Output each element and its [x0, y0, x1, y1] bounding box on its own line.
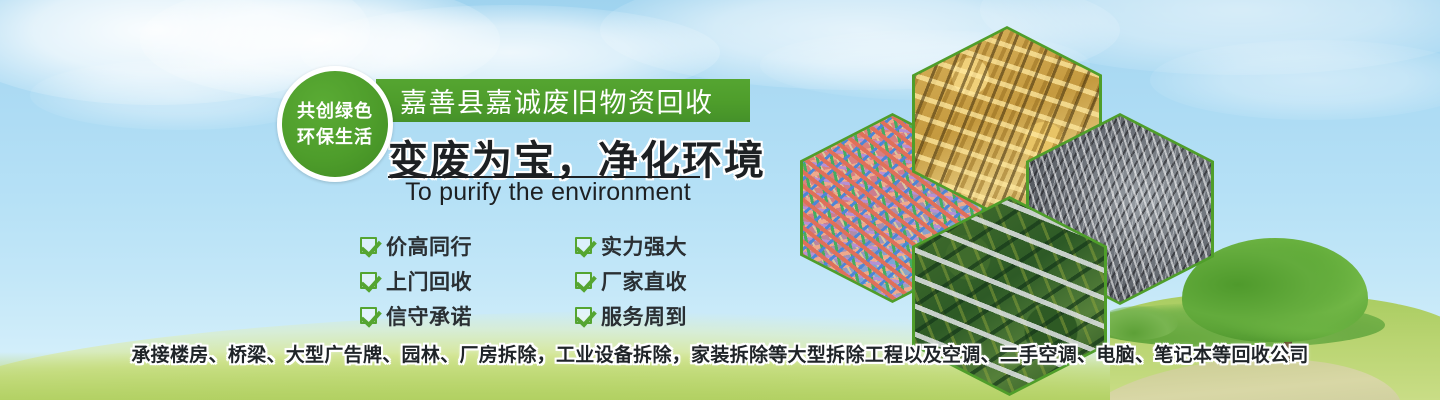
feature-list: 价高同行 实力强大 上门回收 厂家直收 信守承诺 服务周到 — [360, 228, 690, 333]
check-box-icon — [575, 237, 592, 254]
feature-item: 服务周到 — [575, 301, 690, 331]
feature-label: 价高同行 — [386, 231, 472, 261]
company-name: 嘉善县嘉诚废旧物资回收 — [376, 81, 714, 120]
company-name-bar: 嘉善县嘉诚废旧物资回收 — [376, 79, 750, 122]
check-box-icon — [360, 307, 377, 324]
services-strapline: 承接楼房、桥梁、大型广告牌、园林、厂房拆除，工业设备拆除，家装拆除等大型拆除工程… — [0, 340, 1440, 367]
headline-subtitle-english: To purify the environment — [388, 178, 708, 207]
feature-item: 厂家直收 — [575, 266, 690, 296]
check-box-icon — [360, 272, 377, 289]
feature-item: 上门回收 — [360, 266, 575, 296]
feature-label: 上门回收 — [386, 266, 472, 296]
check-box-icon — [360, 237, 377, 254]
check-box-icon — [575, 272, 592, 289]
hexagon-photo-cluster — [790, 18, 1240, 338]
feature-item: 价高同行 — [360, 231, 575, 261]
feature-item: 实力强大 — [575, 231, 690, 261]
check-box-icon — [575, 307, 592, 324]
eco-slogan-badge: 共创绿色 环保生活 — [277, 66, 393, 182]
eco-slogan-line-2: 环保生活 — [297, 124, 373, 150]
feature-label: 服务周到 — [601, 301, 687, 331]
feature-label: 信守承诺 — [386, 301, 472, 331]
feature-item: 信守承诺 — [360, 301, 575, 331]
feature-label: 实力强大 — [601, 231, 687, 261]
recycling-company-banner: 共创绿色 环保生活 嘉善县嘉诚废旧物资回收 变废为宝，净化环境 To purif… — [0, 0, 1440, 400]
feature-label: 厂家直收 — [601, 266, 687, 296]
eco-slogan-line-1: 共创绿色 — [297, 98, 373, 124]
